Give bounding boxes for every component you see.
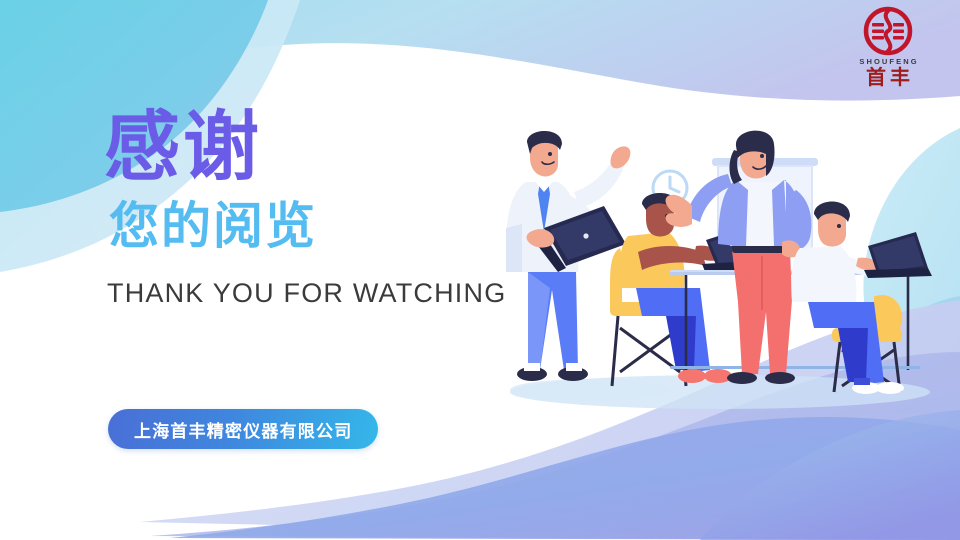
office-team-illustration (470, 120, 960, 410)
logo-chinese-text: 首丰 (862, 67, 914, 88)
shoufeng-emblem-icon (863, 6, 913, 56)
floor-shadow-2 (510, 379, 670, 401)
wave-bottom-right-accent (700, 410, 960, 540)
shoufeng-logo: SHOUFENG 首丰 (842, 6, 934, 94)
company-name-badge: 上海首丰精密仪器有限公司 (108, 409, 378, 449)
wave-top-band (0, 0, 960, 101)
headline-line-2: 您的阅览 (109, 200, 524, 253)
headline-line-1: 感谢 (104, 108, 524, 186)
slide-canvas: SHOUFENG 首丰 感谢 您的阅览 THANK YOU FOR WATCHI… (0, 0, 960, 540)
company-name-label: 上海首丰精密仪器有限公司 (134, 417, 352, 442)
figure-standing-man-with-laptop (506, 131, 630, 381)
headline-english: THANK YOU FOR WATCHING (107, 278, 524, 309)
headline-block: 感谢 您的阅览 THANK YOU FOR WATCHING (104, 108, 524, 309)
